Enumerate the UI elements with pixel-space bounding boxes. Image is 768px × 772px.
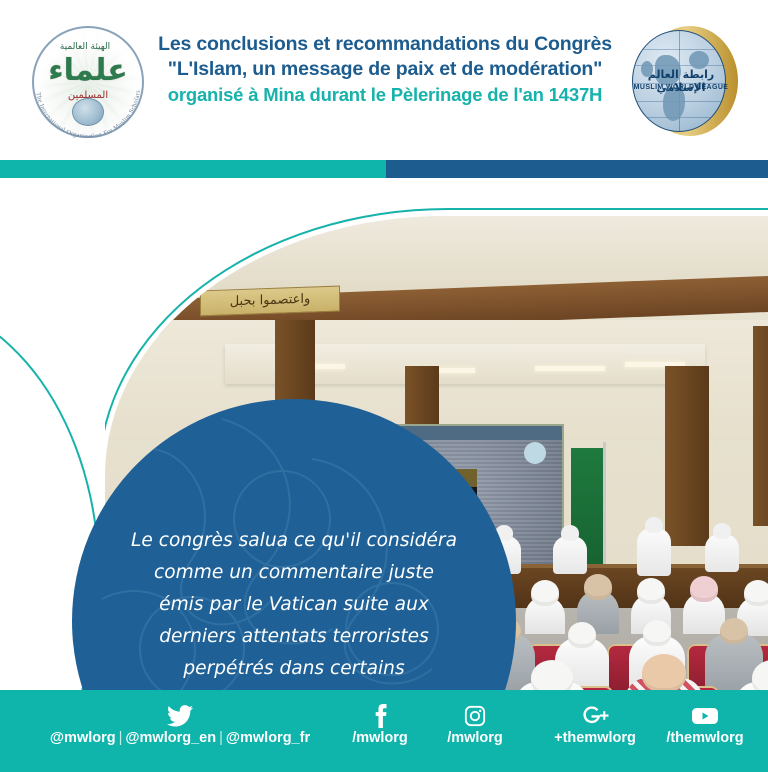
social-youtube[interactable]: /themwlorg xyxy=(650,704,760,746)
quote-line-2: comme un commentaire juste xyxy=(154,557,434,589)
twitter-handle-3: @mwlorg_fr xyxy=(226,730,310,746)
facebook-handle: /mwlorg xyxy=(352,730,408,746)
social-twitter[interactable]: @mwlorg|@mwlorg_en|@mwlorg_fr xyxy=(22,704,338,746)
instagram-icon xyxy=(464,704,486,728)
header-title-line-1: Les conclusions et recommandations du Co… xyxy=(150,32,620,57)
quote-line-4: derniers attentats terroristes xyxy=(159,621,429,653)
mwl-logo-english-text: MUSLIM WORLD LEAGUE xyxy=(630,84,732,91)
iomS-logo: الهيئة العالمية علماء المسلمين The Inter… xyxy=(26,24,152,142)
body-area: واعتصموا بحبل xyxy=(0,178,768,690)
youtube-handle: /themwlorg xyxy=(666,730,743,746)
mwl-logo: رابطة العالم الإسلامي MUSLIM WORLD LEAGU… xyxy=(628,24,746,140)
facebook-icon xyxy=(374,704,387,728)
svg-text:The International Organization: The International Organization For Musli… xyxy=(34,89,141,140)
divider-band-blue xyxy=(386,160,768,178)
social-footer: @mwlorg|@mwlorg_en|@mwlorg_fr /mwlorg /m… xyxy=(0,690,768,772)
header-title-line-3: organisé à Mina durant le Pèlerinage de … xyxy=(150,82,620,107)
quote-text: Le congrès salua ce qu'il considéra comm… xyxy=(72,399,516,690)
twitter-handle-2: @mwlorg_en xyxy=(125,730,216,746)
handle-separator-2: | xyxy=(216,730,226,746)
quote-line-5: perpétrés dans certains xyxy=(183,653,404,685)
handle-separator-1: | xyxy=(116,730,126,746)
poster: الهيئة العالمية علماء المسلمين The Inter… xyxy=(0,0,768,772)
social-instagram[interactable]: /mwlorg xyxy=(420,704,530,746)
iomS-logo-curved-text: The International Organization For Musli… xyxy=(26,24,150,142)
quote-line-1: Le congrès salua ce qu'il considéra xyxy=(131,525,457,557)
twitter-handles: @mwlorg|@mwlorg_en|@mwlorg_fr xyxy=(50,730,310,746)
quote-line-3: émis par le Vatican suite aux xyxy=(159,589,429,621)
header: الهيئة العالمية علماء المسلمين The Inter… xyxy=(0,0,768,160)
divider-band-teal xyxy=(0,160,386,178)
header-title-block: Les conclusions et recommandations du Co… xyxy=(150,32,620,107)
social-googleplus[interactable]: +themwlorg xyxy=(520,704,670,746)
youtube-icon xyxy=(691,704,719,728)
google-plus-icon xyxy=(580,704,610,728)
header-title-line-2: "L'Islam, un message de paix et de modér… xyxy=(150,57,620,82)
twitter-icon xyxy=(167,704,193,728)
social-facebook[interactable]: /mwlorg xyxy=(330,704,430,746)
twitter-handle-1: @mwlorg xyxy=(50,730,116,746)
googleplus-handle: +themwlorg xyxy=(554,730,636,746)
instagram-handle: /mwlorg xyxy=(447,730,503,746)
hall-arabic-plaque: واعتصموا بحبل xyxy=(200,286,340,317)
